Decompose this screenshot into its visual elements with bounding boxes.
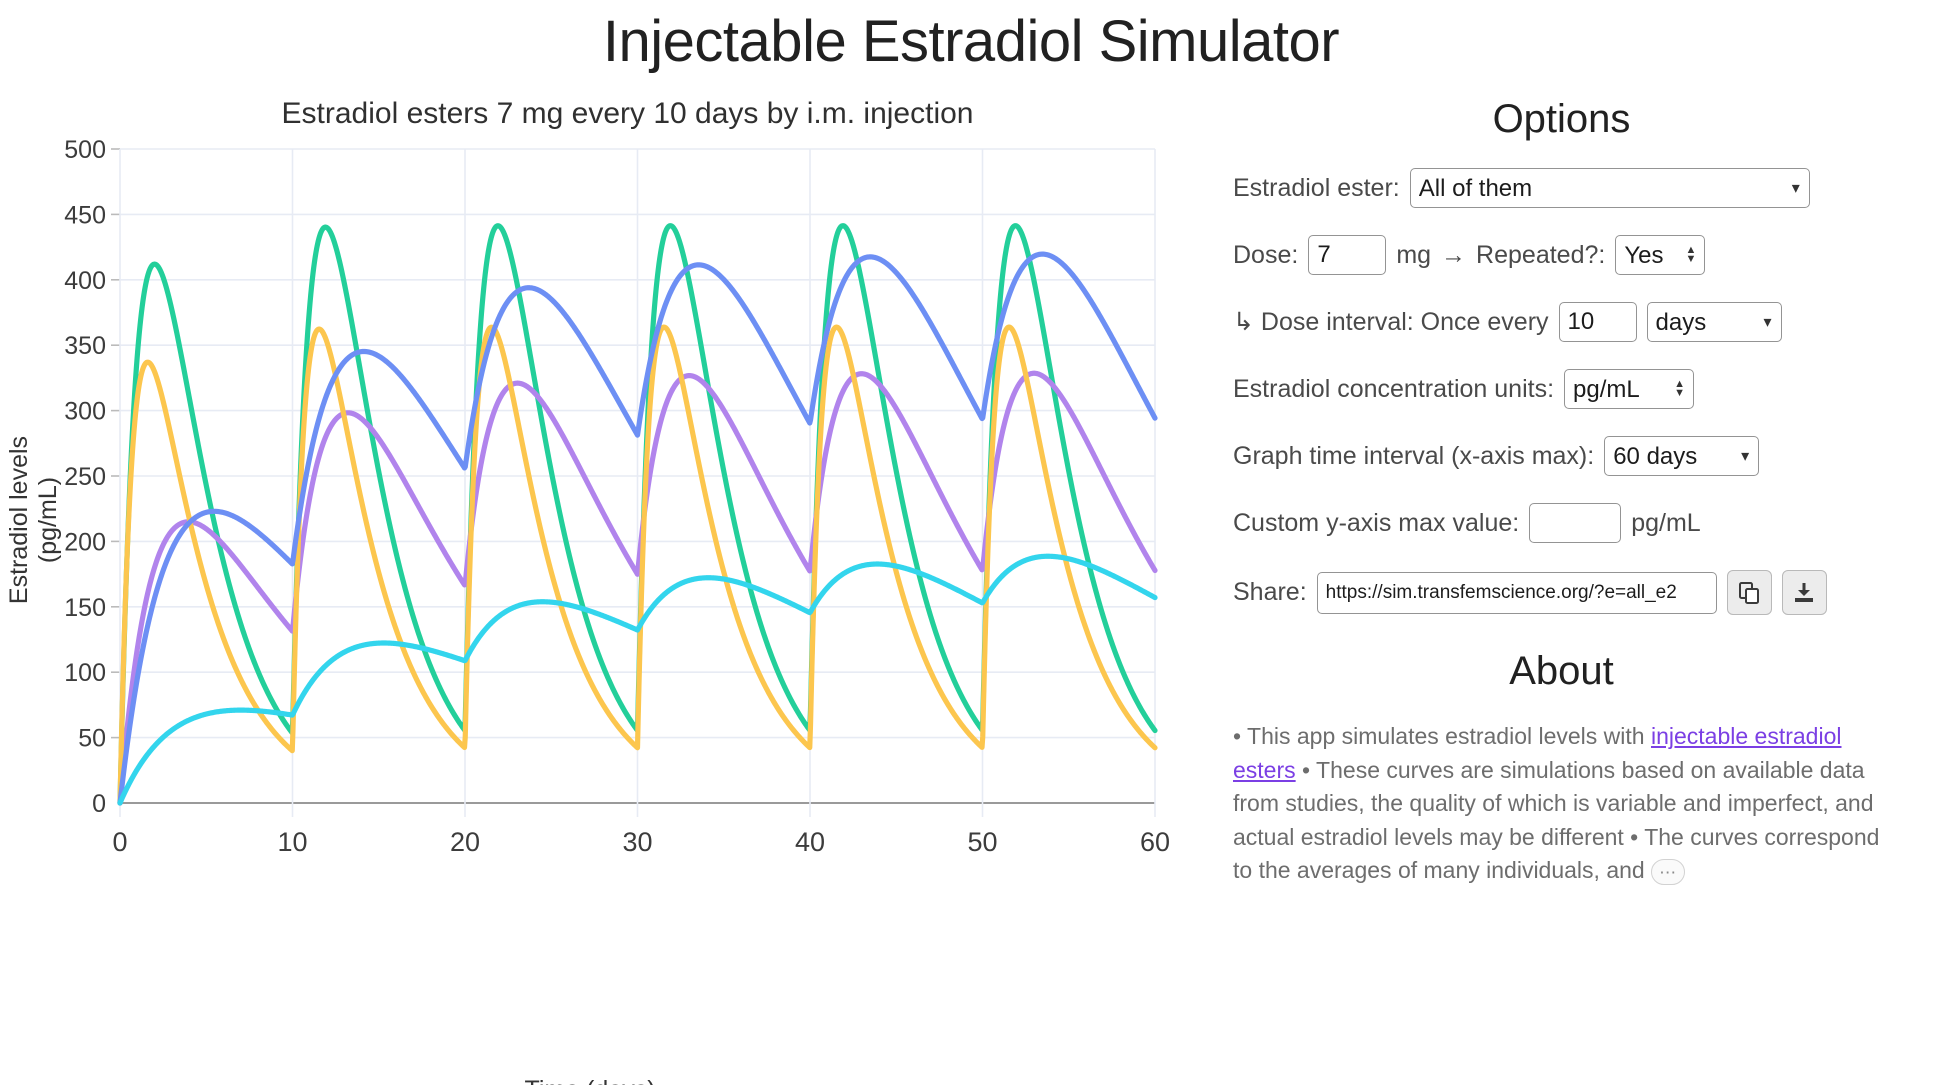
dose-label: Dose: <box>1233 241 1298 270</box>
download-icon <box>1792 581 1816 605</box>
copy-link-button[interactable] <box>1727 570 1772 615</box>
dose-unit: mg <box>1396 241 1431 270</box>
svg-text:50: 50 <box>967 827 997 857</box>
page-title: Injectable Estradiol Simulator <box>0 0 1942 75</box>
ester-select[interactable]: All of them <box>1410 168 1810 208</box>
app-root: Injectable Estradiol Simulator Estradiol… <box>0 0 1942 1085</box>
about-part2: • These curves are simulations based on … <box>1233 757 1879 884</box>
about-heading: About <box>1233 649 1890 694</box>
option-row-share: Share: <box>1233 570 1890 615</box>
svg-text:0: 0 <box>92 790 106 818</box>
time-interval-select-wrap: 60 days ▾ <box>1604 436 1759 476</box>
svg-text:30: 30 <box>622 827 652 857</box>
ymax-unit: pg/mL <box>1631 509 1700 538</box>
svg-text:300: 300 <box>64 398 106 426</box>
download-image-button[interactable] <box>1782 570 1827 615</box>
x-axis-label: Time (days) <box>0 1076 1180 1085</box>
option-row-ymax: Custom y-axis max value: pg/mL <box>1233 503 1890 543</box>
svg-text:20: 20 <box>450 827 480 857</box>
copy-icon <box>1737 581 1761 605</box>
ester-select-wrap: All of them ▾ <box>1410 168 1810 208</box>
svg-text:0: 0 <box>112 827 127 857</box>
y-axis-label: Estradiol levels (pg/mL) <box>5 390 63 650</box>
svg-text:100: 100 <box>64 659 106 687</box>
svg-text:200: 200 <box>64 528 106 556</box>
interval-unit-wrap: days ▾ <box>1647 302 1782 342</box>
main-layout: Estradiol esters 7 mg every 10 days by i… <box>0 75 1942 921</box>
interval-unit-select[interactable]: days <box>1647 302 1782 342</box>
svg-text:250: 250 <box>64 463 106 491</box>
option-row-interval: ↳ Dose interval: Once every days ▾ <box>1233 302 1890 342</box>
expand-about-button[interactable]: ⋯ <box>1651 859 1685 885</box>
svg-text:350: 350 <box>64 332 106 360</box>
estradiol-line-chart[interactable]: 0501001502002503003504004505000102030405… <box>0 131 1180 921</box>
time-interval-label: Graph time interval (x-axis max): <box>1233 442 1594 471</box>
interval-input[interactable] <box>1559 302 1637 342</box>
about-text: • This app simulates estradiol levels wi… <box>1233 720 1890 888</box>
dose-input[interactable] <box>1308 235 1386 275</box>
options-heading: Options <box>1233 97 1890 142</box>
svg-text:400: 400 <box>64 267 106 295</box>
chart-panel: Estradiol esters 7 mg every 10 days by i… <box>0 75 1215 921</box>
time-interval-select[interactable]: 60 days <box>1604 436 1759 476</box>
share-url-input[interactable] <box>1317 572 1717 614</box>
option-row-dose: Dose: mg → Repeated?: Yes ▲▼ <box>1233 235 1890 275</box>
svg-text:500: 500 <box>64 136 106 164</box>
option-row-time-interval: Graph time interval (x-axis max): 60 day… <box>1233 436 1890 476</box>
option-row-ester: Estradiol ester: All of them ▾ <box>1233 168 1890 208</box>
units-label: Estradiol concentration units: <box>1233 375 1554 404</box>
ymax-input[interactable] <box>1529 503 1621 543</box>
svg-text:60: 60 <box>1140 827 1170 857</box>
units-select[interactable]: pg/mL <box>1564 369 1694 409</box>
svg-text:450: 450 <box>64 201 106 229</box>
svg-text:10: 10 <box>277 827 307 857</box>
options-panel: Options Estradiol ester: All of them ▾ D… <box>1215 75 1942 921</box>
units-select-wrap: pg/mL ▲▼ <box>1564 369 1694 409</box>
repeated-select-wrap: Yes ▲▼ <box>1615 235 1705 275</box>
chart-title: Estradiol esters 7 mg every 10 days by i… <box>0 97 1215 131</box>
plot-area: 0501001502002503003504004505000102030405… <box>0 131 1215 921</box>
option-row-units: Estradiol concentration units: pg/mL ▲▼ <box>1233 369 1890 409</box>
svg-text:40: 40 <box>795 827 825 857</box>
repeated-label: Repeated?: <box>1476 241 1605 270</box>
ymax-label: Custom y-axis max value: <box>1233 509 1519 538</box>
arrow-right-icon: → <box>1441 241 1466 270</box>
svg-text:50: 50 <box>78 725 106 753</box>
svg-text:150: 150 <box>64 594 106 622</box>
share-label: Share: <box>1233 578 1307 607</box>
ester-label: Estradiol ester: <box>1233 174 1400 203</box>
about-part1: • This app simulates estradiol levels wi… <box>1233 723 1651 749</box>
repeated-select[interactable]: Yes <box>1615 235 1705 275</box>
interval-label: ↳ Dose interval: Once every <box>1233 307 1549 337</box>
